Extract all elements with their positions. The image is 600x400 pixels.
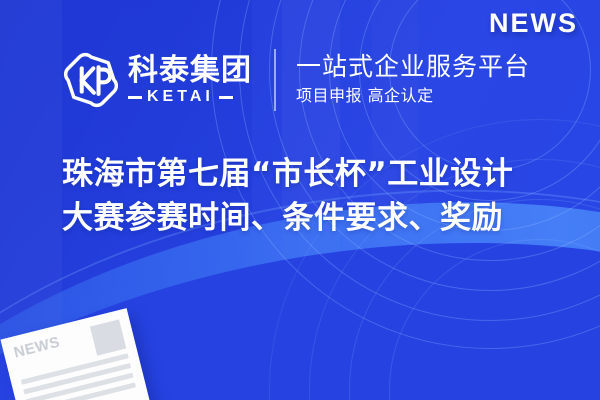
- tagline-primary: 一站式企业服务平台: [296, 53, 530, 82]
- headline-line-1: 珠海市第七届“市长杯”工业设计: [62, 152, 562, 196]
- brand-logo-wordmark: 科泰集团 KETAI: [128, 55, 252, 106]
- logo-dash-left: [128, 96, 142, 99]
- newspaper-title: NEWS: [12, 328, 87, 362]
- logo-dash-right: [219, 96, 233, 99]
- banner-header: 科泰集团 KETAI 一站式企业服务平台 项目申报 高企认定: [62, 42, 530, 118]
- ketai-kp-monogram-icon: [62, 51, 120, 109]
- brand-name-chinese: 科泰集团: [128, 55, 252, 87]
- tagline-secondary: 项目申报 高企认定: [296, 86, 530, 107]
- tagline-block: 一站式企业服务平台 项目申报 高企认定: [296, 53, 530, 107]
- news-banner: NEWS 科泰集团 KETAI: [0, 0, 600, 400]
- news-badge: NEWS: [489, 8, 578, 39]
- headline-line-2: 大赛参赛时间、条件要求、奖励: [62, 196, 562, 240]
- brand-name-english-row: KETAI: [128, 89, 252, 105]
- newspaper-thumbnail: [90, 319, 126, 355]
- brand-logo[interactable]: 科泰集团 KETAI: [62, 51, 252, 109]
- headline-block: 珠海市第七届“市长杯”工业设计 大赛参赛时间、条件要求、奖励: [62, 152, 562, 240]
- brand-name-english: KETAI: [147, 89, 214, 105]
- header-divider: [274, 49, 276, 111]
